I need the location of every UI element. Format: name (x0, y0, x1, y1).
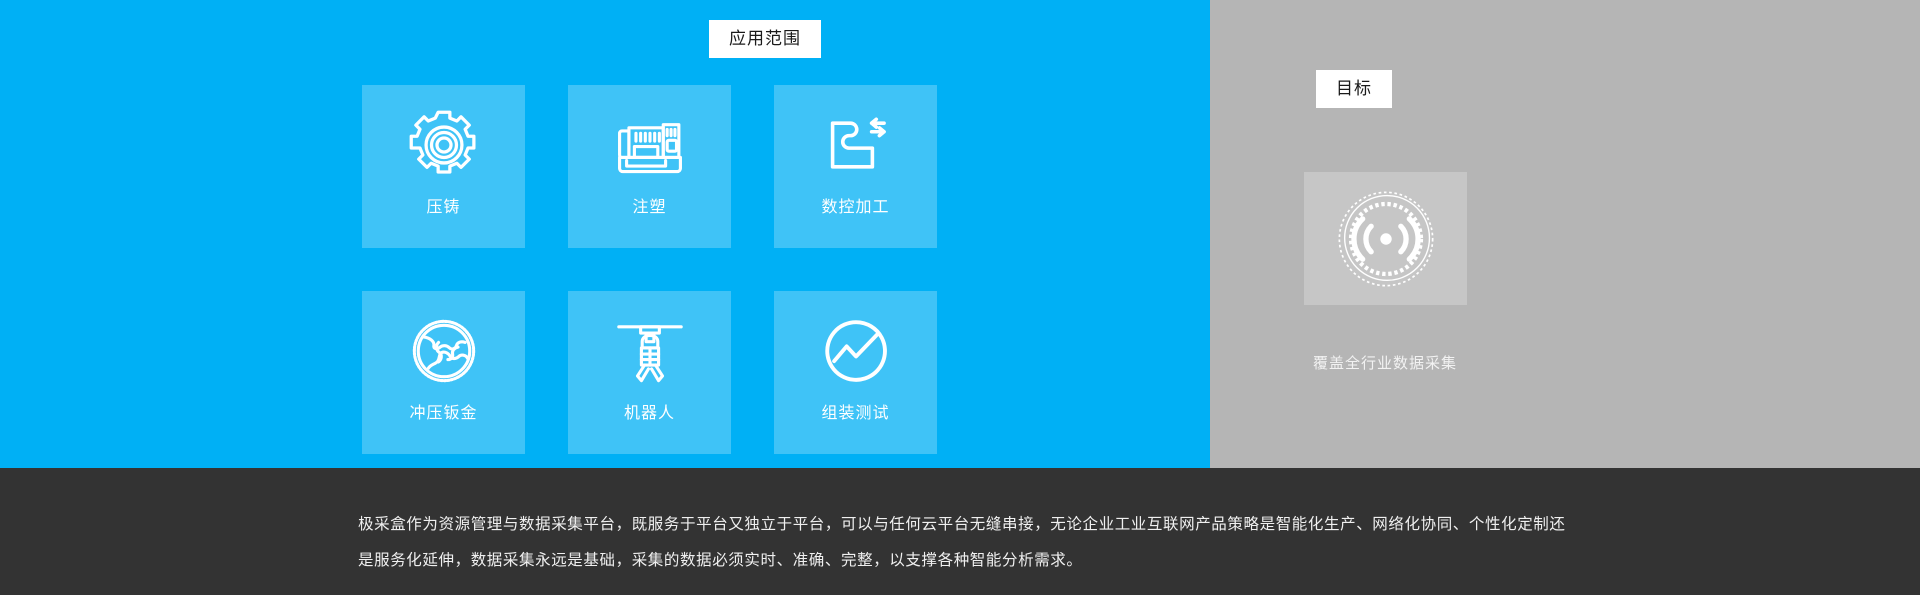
injection-molding-machine-icon (611, 106, 689, 184)
card-label: 数控加工 (821, 200, 889, 216)
top-area: 应用范围 压铸 (0, 0, 1920, 468)
card-label: 组装测试 (821, 406, 889, 422)
goal-caption: 覆盖全行业数据采集 (1210, 356, 1560, 371)
robot-gripper-icon (611, 312, 689, 390)
card-label: 压铸 (426, 200, 460, 216)
footer-paragraph: 极采盒作为资源管理与数据采集平台，既服务于平台又独立于平台，可以与任何云平台无缝… (358, 507, 1573, 579)
card-robot[interactable]: 机器人 (568, 291, 731, 454)
card-assembly-testing[interactable]: 组装测试 (774, 291, 937, 454)
circle-line-chart-icon (817, 312, 895, 390)
card-label: 注塑 (632, 200, 666, 216)
card-stamping-sheet-metal[interactable]: 冲压钣金 (362, 291, 525, 454)
card-label: 机器人 (624, 406, 675, 422)
goal-tile[interactable] (1304, 172, 1467, 305)
globe-icon (405, 312, 483, 390)
wireless-signal-icon (1333, 186, 1439, 292)
card-die-casting[interactable]: 压铸 (362, 85, 525, 248)
section-chip-application-scope: 应用范围 (709, 20, 821, 58)
section-chip-goal: 目标 (1316, 70, 1392, 108)
card-injection-molding[interactable]: 注塑 (568, 85, 731, 248)
page-root: 应用范围 压铸 (0, 0, 1920, 595)
card-cnc-machining[interactable]: 数控加工 (774, 85, 937, 248)
gear-icon (405, 106, 483, 184)
card-label: 冲压钣金 (409, 406, 477, 422)
footer-description-panel: 极采盒作为资源管理与数据采集平台，既服务于平台又独立于平台，可以与任何云平台无缝… (0, 468, 1920, 595)
application-scope-panel: 应用范围 压铸 (0, 0, 1210, 468)
cnc-toolpath-icon (817, 106, 895, 184)
